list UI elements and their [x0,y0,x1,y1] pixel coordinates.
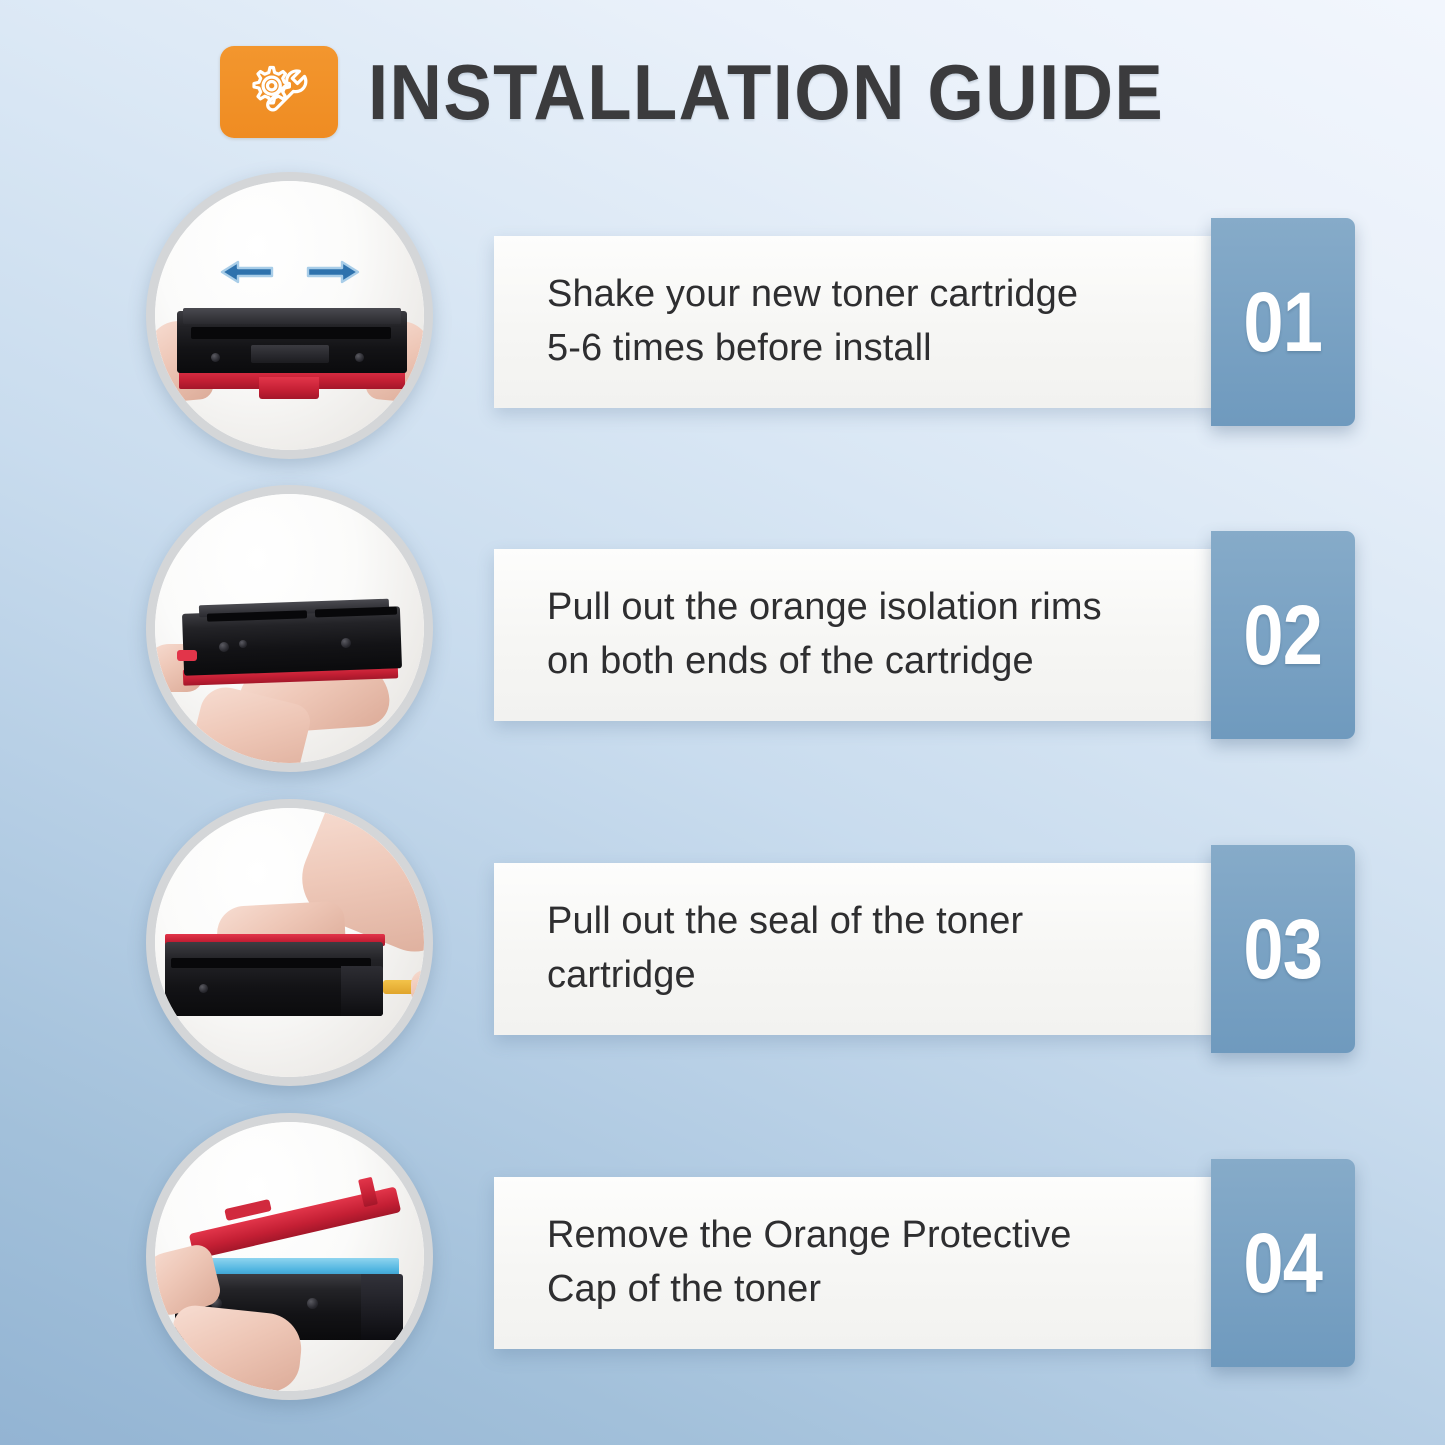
step-row-02: Pull out the orange isolation rims on bo… [0,473,1445,789]
step-text-card: Pull out the orange isolation rims on bo… [494,549,1217,721]
step-card-02: Pull out the orange isolation rims on bo… [494,473,1355,789]
installation-guide-page: INSTALLATION GUIDE [0,0,1445,1445]
step-text-card: Pull out the seal of the toner cartridge [494,863,1217,1035]
gear-wrench-icon [220,46,338,138]
pull-seal-photo [146,799,433,1086]
step-number-text: 02 [1244,593,1323,677]
page-title: INSTALLATION GUIDE [368,53,1164,131]
step-instruction-text: Remove the Orange Protective Cap of the … [494,1209,1086,1317]
page-header: INSTALLATION GUIDE [0,46,1445,138]
step-text-card: Remove the Orange Protective Cap of the … [494,1177,1217,1349]
toner-shake-photo [146,172,433,459]
step-card-01: Shake your new toner cartridge 5-6 times… [494,160,1355,476]
step-number-badge: 03 [1211,845,1355,1053]
step-instruction-text: Pull out the seal of the toner cartridge [494,895,1037,1003]
step-instruction-text: Pull out the orange isolation rims on bo… [494,581,1116,689]
step-card-04: Remove the Orange Protective Cap of the … [494,1101,1355,1417]
step-row-01: Shake your new toner cartridge 5-6 times… [0,160,1445,476]
step-number-text: 04 [1244,1221,1323,1305]
remove-protective-cap-photo [146,1113,433,1400]
shake-arrows [218,259,362,285]
step-instruction-text: Shake your new toner cartridge 5-6 times… [494,268,1092,376]
step-row-03: Pull out the seal of the toner cartridge… [0,787,1445,1103]
step-number-badge: 04 [1211,1159,1355,1367]
step-row-04: Remove the Orange Protective Cap of the … [0,1101,1445,1417]
arrow-right-icon [304,259,362,285]
step-number-badge: 02 [1211,531,1355,739]
pull-isolation-rims-photo [146,485,433,772]
step-card-03: Pull out the seal of the toner cartridge… [494,787,1355,1103]
step-number-text: 03 [1244,907,1323,991]
step-text-card: Shake your new toner cartridge 5-6 times… [494,236,1217,408]
step-number-text: 01 [1244,280,1323,364]
step-number-badge: 01 [1211,218,1355,426]
arrow-left-icon [218,259,276,285]
